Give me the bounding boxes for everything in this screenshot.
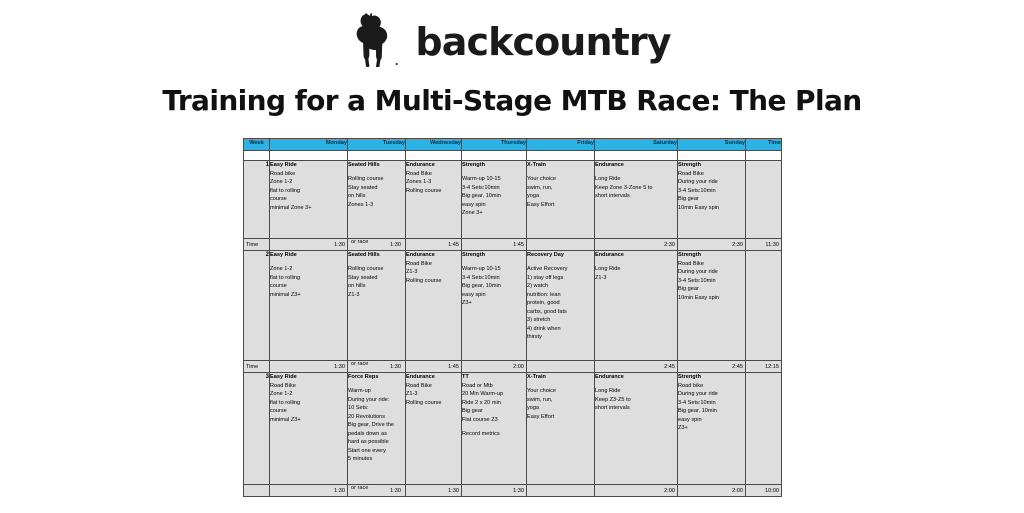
cell-line: on hills xyxy=(348,192,405,201)
time-monday-week2: 1:30 xyxy=(270,361,348,373)
cell-title: Strength xyxy=(678,373,745,382)
cell-title: Recovery Day xyxy=(527,251,594,260)
cell-line: short intervals xyxy=(595,192,677,201)
cell-title: Force Reps xyxy=(348,373,405,382)
cell-line: Record metrics xyxy=(462,430,526,439)
cell-wednesday-week2: EnduranceRoad BikeZ1-3Rolling course xyxy=(406,251,462,361)
cell-title: TT xyxy=(462,373,526,382)
cell-line: course xyxy=(270,195,347,204)
time-total-week3: 10:00 xyxy=(746,485,782,497)
cell-line: Keep Zone 3-Zone 5 to xyxy=(595,184,677,193)
time-friday-week2 xyxy=(527,361,595,373)
col-header-sunday: Sunday xyxy=(678,139,746,151)
cell-line: Z1-3 xyxy=(348,291,405,300)
time-row-label xyxy=(244,485,270,497)
header-spacer-row xyxy=(244,151,782,161)
cell-thursday-week2: StrengthWarm-up 10-153-4 Sets:10minBig g… xyxy=(462,251,527,361)
cell-saturday-week3: EnduranceLong RideKeep Z3-Z5 toshort int… xyxy=(595,373,678,485)
time-sunday-week3: 2:00 xyxy=(678,485,746,497)
cell-line: Road Bike xyxy=(406,382,461,391)
cell-title: Strength xyxy=(462,161,526,170)
cell-line: Road Bike xyxy=(270,382,347,391)
cell-line: easy spin xyxy=(462,291,526,300)
time-friday-week1 xyxy=(527,239,595,251)
cell-line: Flat course Z3 xyxy=(462,416,526,425)
col-header-saturday: Saturday xyxy=(595,139,678,151)
cell-line: Zone 1-2 xyxy=(270,390,347,399)
cell-line: easy spin xyxy=(678,416,745,425)
time-wednesday-week1: 1:45 xyxy=(406,239,462,251)
cell-title: Easy Ride xyxy=(270,251,347,260)
cell-title: Endurance xyxy=(595,251,677,260)
or-race-note: or race xyxy=(351,361,368,369)
time-sunday-week1: 2:30 xyxy=(678,239,746,251)
training-plan-table: Week Monday Tuesday Wednesday Thursday F… xyxy=(243,138,782,497)
cell-line: Road or Mtb xyxy=(462,382,526,391)
table-header-row: Week Monday Tuesday Wednesday Thursday F… xyxy=(244,139,782,151)
cell-title: Seated Hills xyxy=(348,251,405,260)
cell-line: short intervals xyxy=(595,404,677,413)
time-thursday-week3: 1:30 xyxy=(462,485,527,497)
time-sunday-week2: 2:45 xyxy=(678,361,746,373)
week-number: 2 xyxy=(244,251,270,361)
cell-line: Big gear, Drive the xyxy=(348,421,405,430)
cell-line: on hills xyxy=(348,282,405,291)
time-saturday-week1: 2:30 xyxy=(595,239,678,251)
cell-line: course xyxy=(270,407,347,416)
cell-saturday-week1: EnduranceLong RideKeep Zone 3-Zone 5 tos… xyxy=(595,161,678,239)
cell-line: Zone 1-2 xyxy=(270,265,347,274)
cell-line: 10min Easy spin xyxy=(678,294,745,303)
cell-monday-week1: Easy RideRoad bikeZone 1-2flat to rollin… xyxy=(270,161,348,239)
cell-line: swim, run, xyxy=(527,396,594,405)
time-saturday-week3: 2:00 xyxy=(595,485,678,497)
goat-logo-icon xyxy=(353,13,401,67)
time-row: Time1:30or race1:301:452:002:452:4512:15 xyxy=(244,361,782,373)
cell-friday-week3: X-TrainYour choiceswim, run,yogaEasy Eff… xyxy=(527,373,595,485)
cell-line: 3-4 Sets:10min xyxy=(678,399,745,408)
time-saturday-week2: 2:45 xyxy=(595,361,678,373)
header-spacer-cell xyxy=(595,151,678,161)
cell-line: Big gear, 10min xyxy=(678,407,745,416)
cell-time-week3 xyxy=(746,373,782,485)
cell-line: Rolling course xyxy=(348,175,405,184)
cell-title: Endurance xyxy=(595,161,677,170)
cell-line: nutrition: lean xyxy=(527,291,594,300)
cell-line: swim, run, xyxy=(527,184,594,193)
cell-wednesday-week1: EnduranceRoad BikeZones 1-3Rolling cours… xyxy=(406,161,462,239)
cell-line: During your ride: xyxy=(348,396,405,405)
col-header-time: Time xyxy=(746,139,782,151)
page-root: backcountry Training for a Multi-Stage M… xyxy=(0,0,1024,513)
col-header-thursday: Thursday xyxy=(462,139,527,151)
time-row-label: Time xyxy=(244,239,270,251)
cell-line: 4) drink when xyxy=(527,325,594,334)
cell-line: yoga xyxy=(527,404,594,413)
cell-sunday-week3: StrengthRoad bikeDuring your ride3-4 Set… xyxy=(678,373,746,485)
cell-line: Easy Effort xyxy=(527,201,594,210)
cell-line: Zones 1-3 xyxy=(406,178,461,187)
cell-sunday-week2: StrengthRoad BikeDuring your ride3-4 Set… xyxy=(678,251,746,361)
header-spacer-cell xyxy=(270,151,348,161)
time-monday-week3: 1:30 xyxy=(270,485,348,497)
cell-line: Long Ride xyxy=(595,175,677,184)
cell-monday-week2: Easy RideZone 1-2flat to rollingcoursemi… xyxy=(270,251,348,361)
or-race-note: or race xyxy=(351,239,368,247)
training-plan-table-wrap: Week Monday Tuesday Wednesday Thursday F… xyxy=(243,138,781,497)
cell-line: Big gear, 10min xyxy=(462,282,526,291)
cell-title: Endurance xyxy=(406,373,461,382)
cell-title: Endurance xyxy=(406,161,461,170)
time-tuesday-week3: or race1:30 xyxy=(348,485,406,497)
cell-tuesday-week3: Force RepsWarm-upDuring your ride:10 Set… xyxy=(348,373,406,485)
cell-saturday-week2: EnduranceLong RideZ1-3 xyxy=(595,251,678,361)
cell-title: Strength xyxy=(678,161,745,170)
cell-line: Easy Effort xyxy=(527,413,594,422)
cell-line: 10 Sets: xyxy=(348,404,405,413)
cell-line: Long Ride xyxy=(595,387,677,396)
cell-tuesday-week1: Seated HillsRolling courseStay seatedon … xyxy=(348,161,406,239)
time-total-week1: 11:30 xyxy=(746,239,782,251)
table-body: 1Easy RideRoad bikeZone 1-2flat to rolli… xyxy=(244,151,782,497)
header-spacer-cell xyxy=(678,151,746,161)
cell-line: Z1-3 xyxy=(595,274,677,283)
header-spacer-cell xyxy=(348,151,406,161)
table-row: 2Easy RideZone 1-2flat to rollingcoursem… xyxy=(244,251,782,361)
cell-line: Big gear, 10min xyxy=(462,192,526,201)
cell-sunday-week1: StrengthRoad BikeDuring your ride3-4 Set… xyxy=(678,161,746,239)
header-spacer-cell xyxy=(406,151,462,161)
cell-line: minimal Z3+ xyxy=(270,416,347,425)
cell-line: 10min Easy spin xyxy=(678,204,745,213)
cell-time-week1 xyxy=(746,161,782,239)
cell-line: flat to rolling xyxy=(270,399,347,408)
cell-line: protein, good xyxy=(527,299,594,308)
cell-line: pedals down as xyxy=(348,430,405,439)
cell-thursday-week1: StrengthWarm-up 10-153-4 Sets:10minBig g… xyxy=(462,161,527,239)
cell-line: Stay seated xyxy=(348,274,405,283)
cell-line: hard as possible xyxy=(348,438,405,447)
cell-line: Road Bike xyxy=(406,170,461,179)
cell-line: Big gear xyxy=(678,195,745,204)
cell-line: Road bike xyxy=(270,170,347,179)
cell-title: Endurance xyxy=(595,373,677,382)
table-head: Week Monday Tuesday Wednesday Thursday F… xyxy=(244,139,782,151)
cell-line: 1) stay off legs xyxy=(527,274,594,283)
cell-title: Easy Ride xyxy=(270,373,347,382)
cell-line: yoga xyxy=(527,192,594,201)
cell-line: Road bike xyxy=(678,382,745,391)
cell-line: Big gear xyxy=(678,285,745,294)
cell-line: During your ride xyxy=(678,268,745,277)
cell-title: Seated Hills xyxy=(348,161,405,170)
cell-line: thirsty xyxy=(527,333,594,342)
cell-line: 3-4 Sets:10min xyxy=(462,274,526,283)
cell-line: Z1-3 xyxy=(406,268,461,277)
cell-line: Warm-up 10-15 xyxy=(462,175,526,184)
cell-line: Your choice xyxy=(527,175,594,184)
header-spacer-cell xyxy=(462,151,527,161)
cell-line: Zones 1-3 xyxy=(348,201,405,210)
cell-line: Zone 1-2 xyxy=(270,178,347,187)
cell-title: Strength xyxy=(678,251,745,260)
cell-title: Easy Ride xyxy=(270,161,347,170)
table-row: 3Easy RideRoad BikeZone 1-2flat to rolli… xyxy=(244,373,782,485)
cell-line: minimal Z3+ xyxy=(270,291,347,300)
cell-line: Road Bike xyxy=(678,260,745,269)
cell-title: X-Train xyxy=(527,161,594,170)
col-header-week: Week xyxy=(244,139,270,151)
time-row: Time1:30or race1:301:451:452:302:3011:30 xyxy=(244,239,782,251)
cell-line: Long Ride xyxy=(595,265,677,274)
cell-friday-week2: Recovery DayActive Recovery1) stay off l… xyxy=(527,251,595,361)
cell-line: Road Bike xyxy=(678,170,745,179)
cell-line: Z3+ xyxy=(462,299,526,308)
or-race-note: or race xyxy=(351,485,368,493)
cell-tuesday-week2: Seated HillsRolling courseStay seatedon … xyxy=(348,251,406,361)
cell-line: 3-4 Sets:10min xyxy=(462,184,526,193)
time-row: 1:30or race1:301:301:302:002:0010:00 xyxy=(244,485,782,497)
time-thursday-week2: 2:00 xyxy=(462,361,527,373)
col-header-wednesday: Wednesday xyxy=(406,139,462,151)
cell-line: Z3+ xyxy=(678,424,745,433)
header-spacer-cell xyxy=(244,151,270,161)
cell-thursday-week3: TTRoad or Mtb20 Min Warm-upRide 2 x 20 m… xyxy=(462,373,527,485)
cell-line: Rolling course xyxy=(406,277,461,286)
time-tuesday-week1: or race1:30 xyxy=(348,239,406,251)
cell-line: 20 Min Warm-up xyxy=(462,390,526,399)
col-header-monday: Monday xyxy=(270,139,348,151)
cell-line: Warm-up 10-15 xyxy=(462,265,526,274)
cell-time-week2 xyxy=(746,251,782,361)
brand-wordmark: backcountry xyxy=(415,23,670,61)
cell-line: 3) stretch xyxy=(527,316,594,325)
week-number: 1 xyxy=(244,161,270,239)
cell-line: Stay seated xyxy=(348,184,405,193)
cell-line: 2) watch xyxy=(527,282,594,291)
cell-line: Ride 2 x 20 min xyxy=(462,399,526,408)
header-spacer-cell xyxy=(746,151,782,161)
cell-line: Warm-up xyxy=(348,387,405,396)
cell-line: 20 Revolutions xyxy=(348,413,405,422)
time-monday-week1: 1:30 xyxy=(270,239,348,251)
cell-line: course xyxy=(270,282,347,291)
cell-wednesday-week3: EnduranceRoad BikeZ1-3Rolling course xyxy=(406,373,462,485)
cell-line: Rolling course xyxy=(406,399,461,408)
cell-line: Active Recovery xyxy=(527,265,594,274)
cell-monday-week3: Easy RideRoad BikeZone 1-2flat to rollin… xyxy=(270,373,348,485)
cell-line: During your ride xyxy=(678,390,745,399)
cell-line: 5 minutes xyxy=(348,455,405,464)
cell-line: carbs, good fats xyxy=(527,308,594,317)
cell-line: Rolling course xyxy=(348,265,405,274)
time-friday-week3 xyxy=(527,485,595,497)
cell-line: Big gear xyxy=(462,407,526,416)
time-thursday-week1: 1:45 xyxy=(462,239,527,251)
cell-line: During your ride xyxy=(678,178,745,187)
brand-header: backcountry xyxy=(0,12,1024,68)
cell-line: 3-4 Sets:10min xyxy=(678,277,745,286)
week-number: 3 xyxy=(244,373,270,485)
time-wednesday-week2: 1:45 xyxy=(406,361,462,373)
cell-line: Road Bike xyxy=(406,260,461,269)
time-total-week2: 12:15 xyxy=(746,361,782,373)
cell-line: flat to rolling xyxy=(270,187,347,196)
cell-line: Z1-3 xyxy=(406,390,461,399)
cell-line: 3-4 Sets:10min xyxy=(678,187,745,196)
cell-line: Your choice xyxy=(527,387,594,396)
cell-title: Strength xyxy=(462,251,526,260)
cell-line: Keep Z3-Z5 to xyxy=(595,396,677,405)
cell-line: Zone 3+ xyxy=(462,209,526,218)
time-wednesday-week3: 1:30 xyxy=(406,485,462,497)
cell-line: flat to rolling xyxy=(270,274,347,283)
table-row: 1Easy RideRoad bikeZone 1-2flat to rolli… xyxy=(244,161,782,239)
cell-friday-week1: X-TrainYour choiceswim, run,yogaEasy Eff… xyxy=(527,161,595,239)
time-tuesday-week2: or race1:30 xyxy=(348,361,406,373)
cell-title: X-Train xyxy=(527,373,594,382)
cell-line: minimal Zone 3+ xyxy=(270,204,347,213)
page-title: Training for a Multi-Stage MTB Race: The… xyxy=(0,84,1024,117)
time-row-label: Time xyxy=(244,361,270,373)
cell-line: Start one every xyxy=(348,447,405,456)
cell-title: Endurance xyxy=(406,251,461,260)
col-header-friday: Friday xyxy=(527,139,595,151)
cell-line: easy spin xyxy=(462,201,526,210)
cell-line: Rolling course xyxy=(406,187,461,196)
header-spacer-cell xyxy=(527,151,595,161)
col-header-tuesday: Tuesday xyxy=(348,139,406,151)
